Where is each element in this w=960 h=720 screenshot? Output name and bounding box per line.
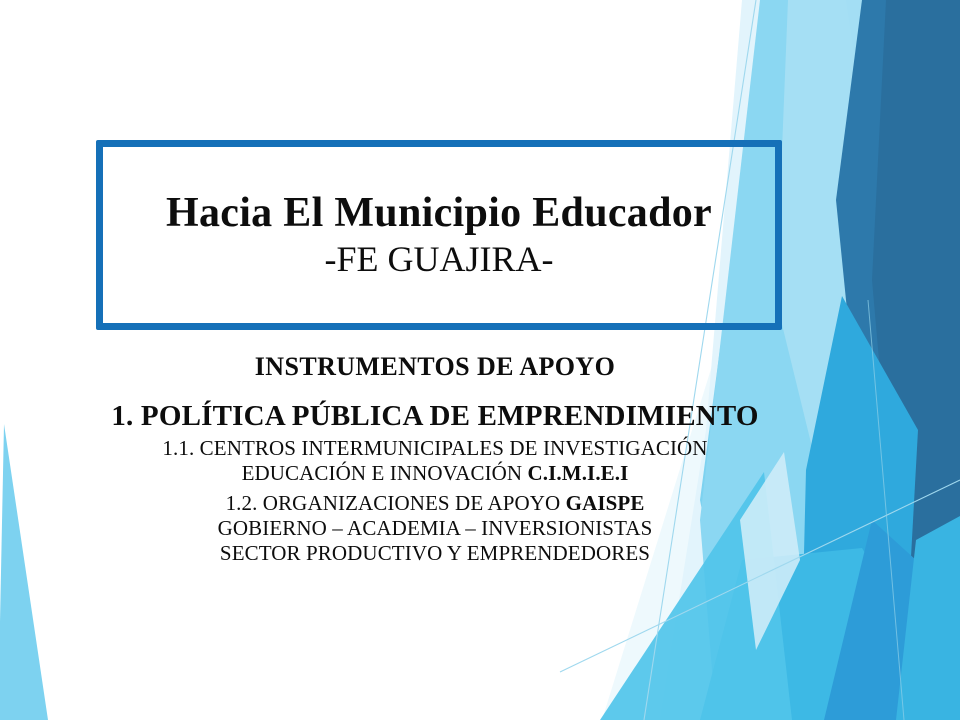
sector-line: SECTOR PRODUCTIVO Y EMPRENDEDORES [0, 541, 870, 566]
item-1-2-prefix: 1.2. ORGANIZACIONES DE APOYO [226, 491, 566, 515]
acronym-cimiei: C.I.M.I.E.I [528, 461, 629, 485]
acronym-gaispe: GAISPE [566, 491, 645, 515]
item-1-1-line-2-prefix: EDUCACIÓN E INNOVACIÓN [242, 461, 528, 485]
item-1-1-line-1: 1.1. CENTROS INTERMUNICIPALES DE INVESTI… [0, 436, 870, 461]
slide-content: Hacia El Municipio Educador -FE GUAJIRA-… [0, 0, 960, 720]
actors-line: GOBIERNO – ACADEMIA – INVERSIONISTAS [0, 516, 870, 541]
slide-title: Hacia El Municipio Educador [166, 191, 712, 236]
item-1-1-line-2: EDUCACIÓN E INNOVACIÓN C.I.M.I.E.I [0, 461, 870, 486]
item-1-2: 1.2. ORGANIZACIONES DE APOYO GAISPE [0, 491, 870, 516]
body-text-block: INSTRUMENTOS DE APOYO 1. POLÍTICA PÚBLIC… [0, 352, 870, 566]
presentation-slide: Hacia El Municipio Educador -FE GUAJIRA-… [0, 0, 960, 720]
heading-politica-publica: 1. POLÍTICA PÚBLICA DE EMPRENDIMIENTO [0, 399, 870, 433]
slide-subtitle: -FE GUAJIRA- [325, 239, 554, 279]
heading-instrumentos-de-apoyo: INSTRUMENTOS DE APOYO [0, 352, 870, 383]
title-box: Hacia El Municipio Educador -FE GUAJIRA- [96, 140, 782, 330]
